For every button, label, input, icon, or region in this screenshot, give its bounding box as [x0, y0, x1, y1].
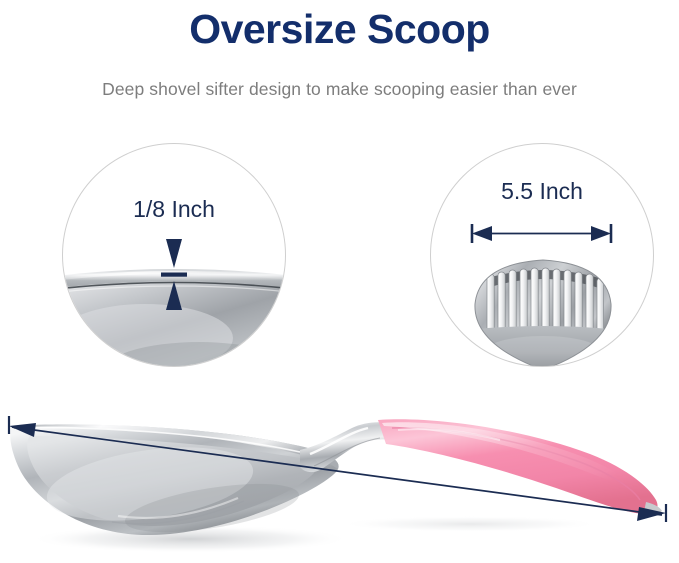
product-infographic: Oversize Scoop Deep shovel sifter design…	[0, 0, 679, 563]
scoop-product-illustration	[0, 396, 679, 563]
thickness-label: 1/8 Inch	[63, 196, 285, 223]
callout-width-circle: 5.5 Inch	[430, 143, 654, 367]
sifter-head-illustration	[457, 248, 629, 367]
page-title: Oversize Scoop	[0, 4, 679, 54]
callout-thickness-circle: 1/8 Inch	[62, 143, 286, 367]
width-label: 5.5 Inch	[431, 178, 653, 205]
scoop-edge-closeup-illustration	[62, 252, 286, 367]
page-subtitle: Deep shovel sifter design to make scoopi…	[0, 77, 679, 101]
header: Oversize Scoop Deep shovel sifter design…	[0, 0, 679, 120]
product-illustration-area: 14 Inch	[0, 396, 679, 563]
